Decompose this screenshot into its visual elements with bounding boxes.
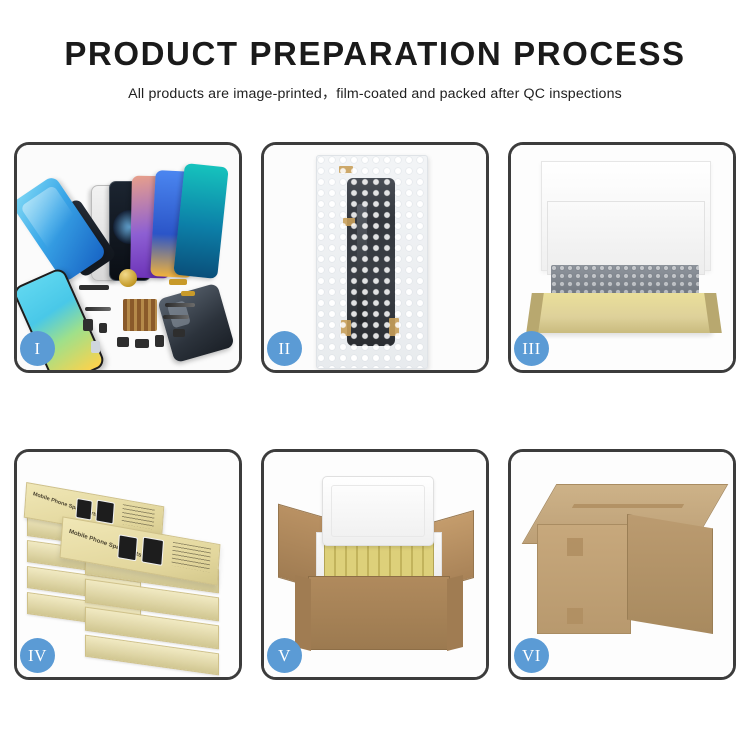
- product-preparation-process-page: PRODUCT PREPARATION PROCESS All products…: [0, 0, 750, 750]
- process-panel-grid: I II: [14, 142, 736, 680]
- bubble-wrap-bag: [316, 155, 428, 369]
- small-part-2: [99, 323, 107, 333]
- panel-2-badge: II: [267, 331, 302, 366]
- tape-piece-bottom-left: [341, 320, 351, 336]
- wrapped-phone-part: [347, 178, 395, 346]
- process-panel-4: Mobile Phone Spare Parts Mobile Phone Sp…: [14, 449, 242, 680]
- panel-4-badge: IV: [20, 638, 55, 673]
- carton-tape-seam: [572, 504, 684, 508]
- box-window-front-2: [141, 537, 164, 566]
- panel-3-badge: III: [514, 331, 549, 366]
- small-part-6: [173, 329, 185, 337]
- small-part-4: [135, 339, 149, 348]
- carton-tape-tab-top: [567, 538, 583, 556]
- kraft-box-base: [535, 293, 713, 333]
- process-panel-1: I: [14, 142, 242, 373]
- gold-contact-part: [181, 291, 195, 296]
- tape-piece-middle: [343, 218, 355, 226]
- box-window-back-1: [75, 498, 92, 521]
- process-panel-2: II: [261, 142, 489, 373]
- process-panel-6: VI: [508, 449, 736, 680]
- carton-tape-tab-bottom: [567, 608, 583, 624]
- page-header: PRODUCT PREPARATION PROCESS All products…: [0, 36, 750, 103]
- flex-cable-2: [165, 303, 195, 307]
- flex-cable-3: [163, 315, 189, 319]
- small-part-5: [155, 335, 164, 347]
- flex-cable-1: [85, 307, 111, 311]
- box-text-lines-front: [171, 542, 211, 572]
- foam-liner: [547, 201, 705, 275]
- speaker-coin-part: [119, 269, 137, 287]
- foam-box-lid: [322, 476, 434, 546]
- box-window-front-1: [117, 534, 138, 561]
- spare-parts-cluster: [77, 263, 227, 367]
- small-part-1: [83, 319, 93, 331]
- connector-grid-part: [123, 299, 157, 331]
- tape-piece-top: [339, 166, 353, 173]
- tape-piece-bottom-right: [389, 318, 399, 336]
- page-subtitle: All products are image-printed，film-coat…: [0, 83, 750, 103]
- small-part-3: [117, 337, 129, 347]
- process-panel-5: V: [261, 449, 489, 680]
- gold-flex-part: [169, 279, 187, 285]
- sim-tray-part: [91, 341, 100, 353]
- page-title: PRODUCT PREPARATION PROCESS: [0, 36, 750, 72]
- panel-5-badge: V: [267, 638, 302, 673]
- carton-right-face: [627, 514, 713, 634]
- box-text-lines-back: [122, 504, 155, 529]
- box-window-back-2: [95, 500, 115, 525]
- carton-front-face: [308, 576, 450, 650]
- panel-6-badge: VI: [514, 638, 549, 673]
- carton-left-face: [537, 524, 631, 634]
- retail-box-stack: Mobile Phone Spare Parts Mobile Phone Sp…: [23, 474, 239, 664]
- earpiece-part: [79, 285, 109, 290]
- process-panel-3: III: [508, 142, 736, 373]
- panel-1-badge: I: [20, 331, 55, 366]
